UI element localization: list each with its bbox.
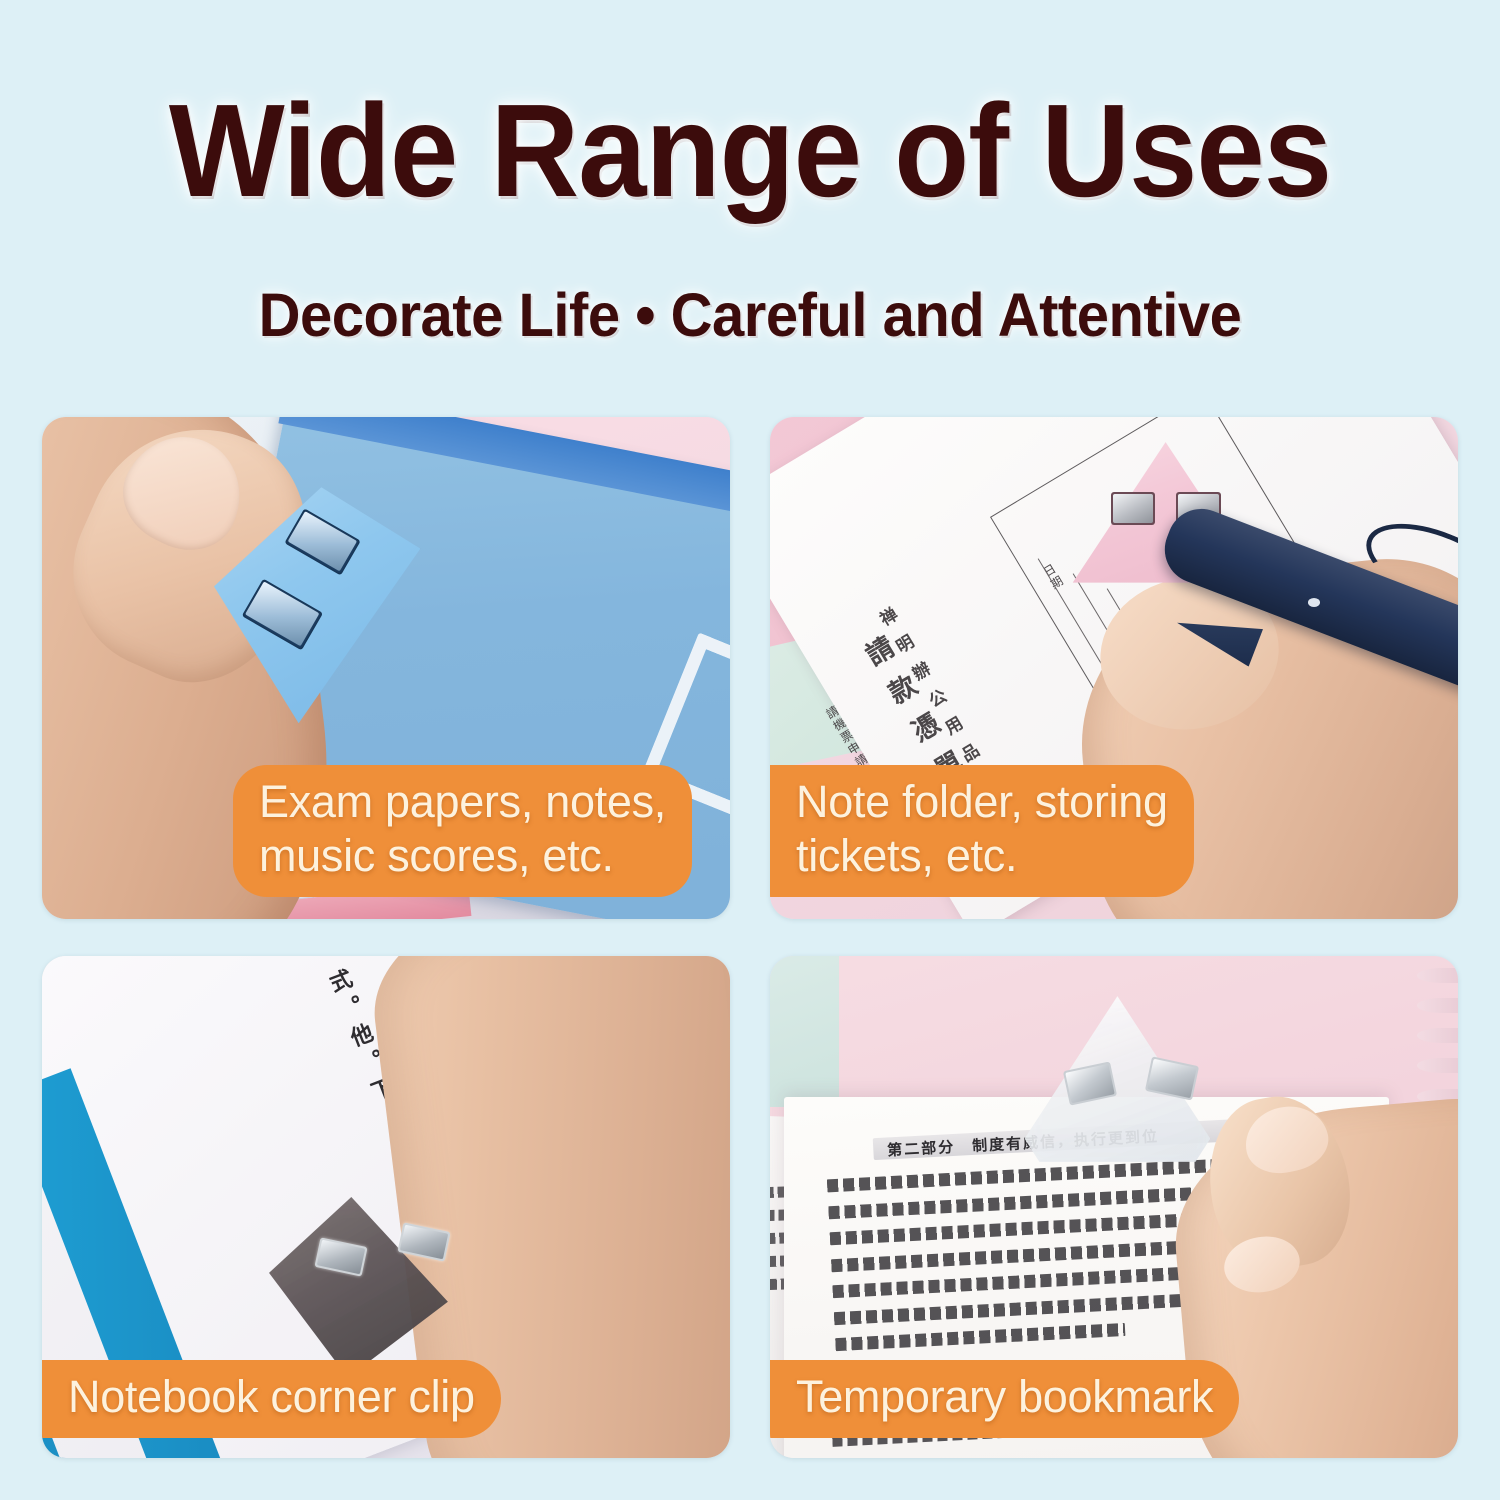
panel-caption-temporary-bookmark: Temporary bookmark (770, 1360, 1239, 1438)
panel-caption-exam-papers: Exam papers, notes, music scores, etc. (233, 765, 692, 897)
pen-highlight-dot (1308, 598, 1320, 607)
clip-slot-left (1111, 492, 1156, 525)
use-case-panel-notebook-corner-clip[interactable]: 式。他。下 一动，就一定 了，强吗？ 任何事情 力的无限 权力欲 Noteboo… (42, 956, 730, 1458)
use-case-grid: Exam papers, notes, music scores, etc. 禅… (42, 417, 1458, 1458)
use-case-panel-exam-papers[interactable]: Exam papers, notes, music scores, etc. (42, 417, 730, 919)
panel-caption-notebook-corner-clip: Notebook corner clip (42, 1360, 501, 1438)
infographic-page: Wide Range of Uses Decorate Life • Caref… (0, 0, 1500, 1500)
page-title: Wide Range of Uses (53, 86, 1448, 216)
use-case-panel-temporary-bookmark[interactable]: 第二部分 制度有威信，执行更到位 Temporary bookmark (770, 956, 1458, 1458)
page-subtitle: Decorate Life • Careful and Attentive (38, 283, 1463, 347)
use-case-panel-note-folder[interactable]: 禅 明 辦 公 用 品 有 限 公 司 請 款 憑 單 日期 請機票申請并相核。 (770, 417, 1458, 919)
panel-caption-note-folder: Note folder, storing tickets, etc. (770, 765, 1194, 897)
photo-backdrop-mint (770, 956, 839, 1107)
